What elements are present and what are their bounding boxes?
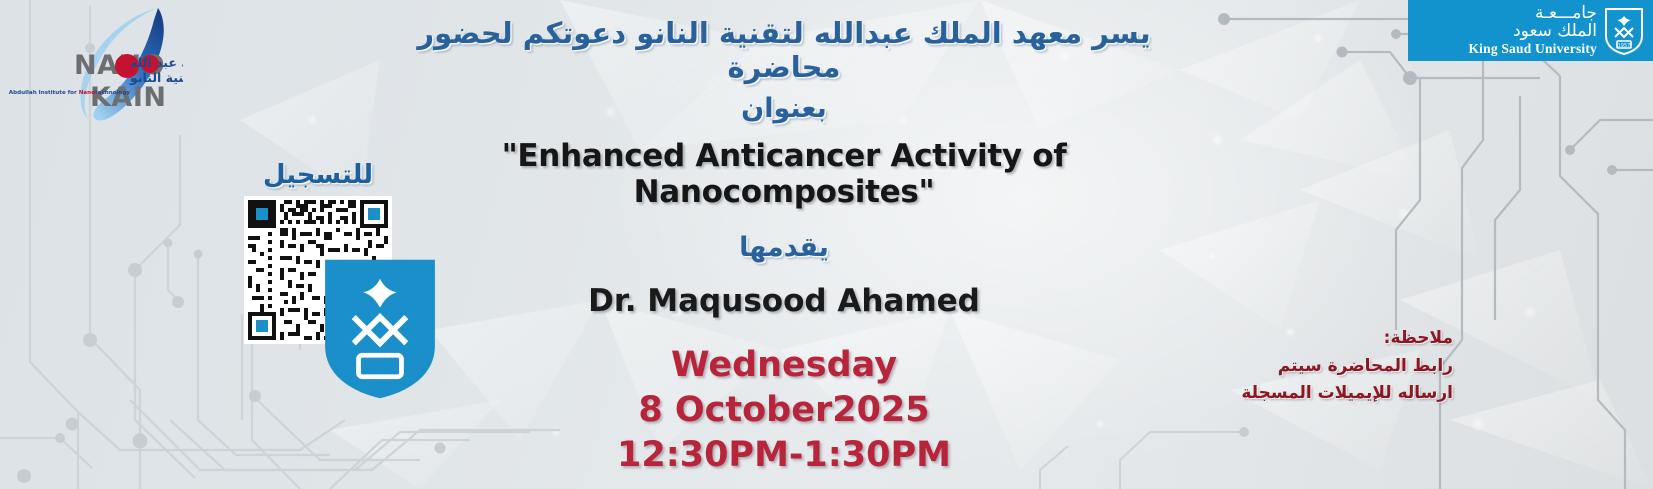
registration-label: للتسجيل: [228, 160, 408, 190]
schedule-time: 12:30PM-1:30PM: [404, 433, 1164, 478]
svg-text:King Abdullah Institute for Na: King Abdullah Institute for Nanotechnolo…: [8, 90, 130, 96]
ksu-shield-year: 1957: [1618, 43, 1631, 49]
svg-text:KAIN: KAIN: [90, 82, 166, 113]
ksu-logo-text: جامـــعـة الملك سعود King Saud Universit…: [1468, 5, 1597, 56]
svg-text:لتقنية النانو: لتقنية النانو: [129, 70, 183, 85]
kain-institute-logo: NANO KAIN معهد الملك عبد الله لتقنية الن…: [8, 2, 183, 124]
speaker-name: Dr. Maqusood Ahamed: [404, 283, 1164, 319]
arabic-invitation-line: يسر معهد الملك عبدالله لتقنية النانو دعو…: [404, 16, 1164, 84]
lecture-title: "Enhanced Anticancer Activity of Nanocom…: [404, 138, 1164, 210]
ksu-arabic-line2: الملك سعود: [1468, 23, 1597, 40]
schedule-block: Wednesday 8 October2025 12:30PM-1:30PM: [404, 343, 1164, 478]
ksu-english-name: King Saud University: [1468, 42, 1597, 56]
qr-code-icon[interactable]: [244, 196, 392, 344]
arabic-titled-label: بعنوان: [404, 93, 1164, 124]
announcement-content: يسر معهد الملك عبدالله لتقنية النانو دعو…: [404, 0, 1164, 478]
event-announcement-banner: NANO KAIN معهد الملك عبد الله لتقنية الن…: [0, 0, 1653, 489]
note-block: ملاحظة: رابط المحاضرة سيتم ارساله للإيمي…: [1241, 325, 1453, 408]
arabic-presented-by-label: يقدمها: [404, 232, 1164, 263]
note-heading: ملاحظة:: [1241, 325, 1453, 353]
note-line-3: ارساله للإيميلات المسجلة: [1241, 380, 1453, 408]
svg-text:معهد الملك عبد الله: معهد الملك عبد الله: [130, 55, 183, 70]
ksu-arabic-line1: جامـــعـة: [1468, 5, 1597, 22]
ksu-shield-icon: 1957: [1603, 6, 1645, 56]
schedule-day: Wednesday: [404, 343, 1164, 388]
schedule-date: 8 October2025: [404, 388, 1164, 433]
note-line-2: رابط المحاضرة سيتم: [1241, 353, 1453, 381]
registration-block[interactable]: للتسجيل: [228, 160, 408, 344]
ksu-logo: جامـــعـة الملك سعود King Saud Universit…: [1408, 0, 1653, 61]
